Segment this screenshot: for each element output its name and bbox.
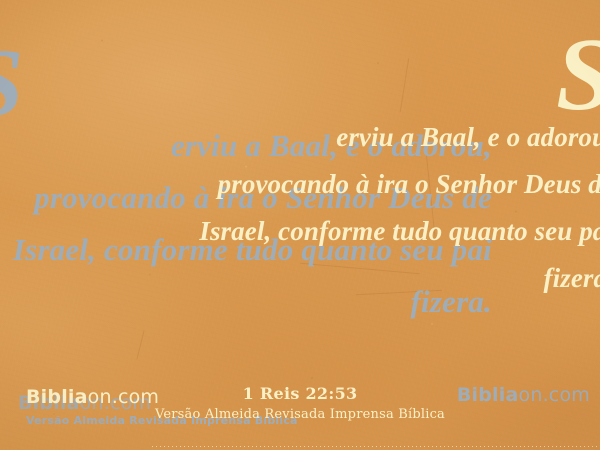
bottom-dotted-rule xyxy=(152,446,600,447)
verse-line: erviu a Baal, e o adorou, xyxy=(108,114,600,161)
verse-reference-block: 1 Reis 22:53 Versão Almeida Revisada Imp… xyxy=(0,384,600,422)
verse-text-main-layer: S erviu a Baal, e o adorou, provocando à… xyxy=(108,36,600,302)
verse-image-canvas: S erviu a Baal, e o adorou, provocando à… xyxy=(0,0,600,450)
verse-version: Versão Almeida Revisada Imprensa Bíblica xyxy=(0,407,600,422)
verse-line: Israel, conforme tudo quanto seu pai xyxy=(108,208,600,255)
verse-dropcap: S xyxy=(108,36,600,114)
verse-citation: 1 Reis 22:53 xyxy=(0,384,600,403)
verse-line: fizera. xyxy=(108,255,600,302)
verse-line: provocando à ira o Senhor Deus de xyxy=(108,161,600,208)
